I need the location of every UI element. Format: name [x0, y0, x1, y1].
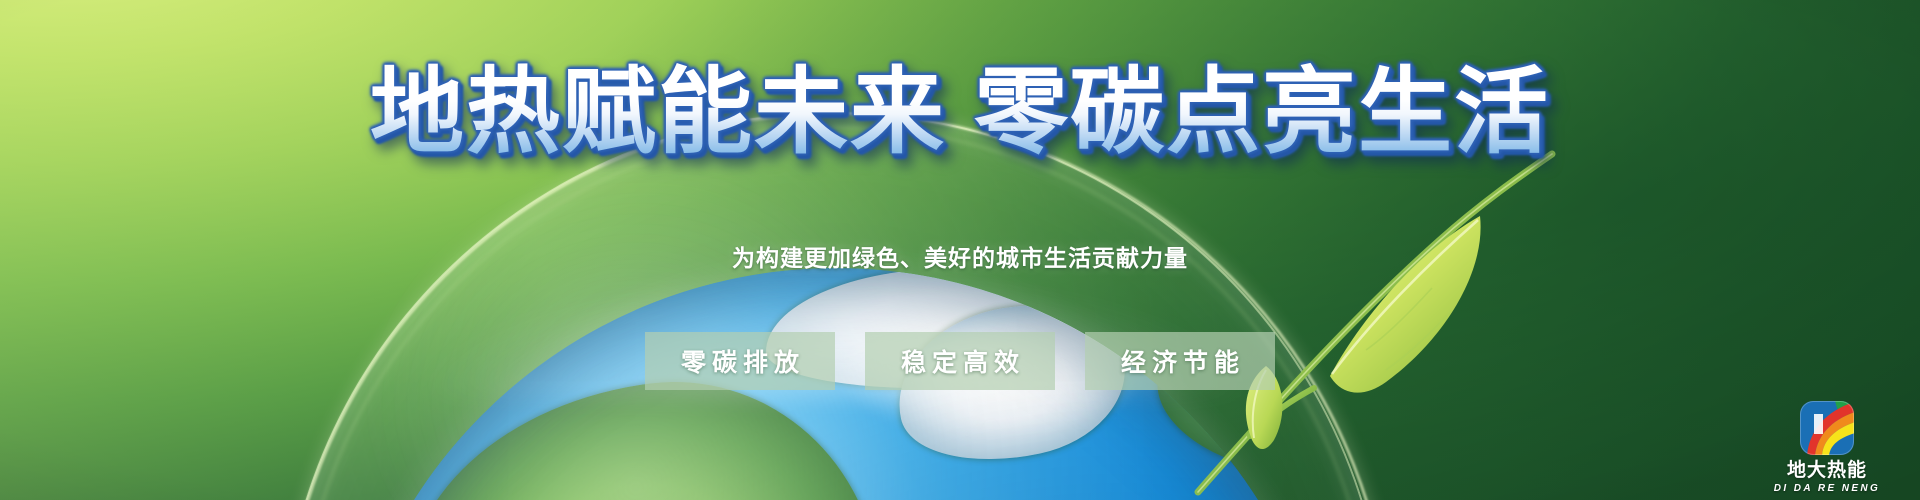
brand-name-cn: 地大热能: [1766, 460, 1888, 482]
brand-name-en: DI DA RE NENG: [1766, 482, 1888, 496]
feature-tag-list: 零碳排放 稳定高效 经济节能: [0, 332, 1920, 390]
page-subtitle: 为构建更加绿色、美好的城市生活贡献力量: [0, 243, 1920, 273]
feature-tag-economical[interactable]: 经济节能: [1085, 332, 1275, 390]
feature-tag-zero-carbon[interactable]: 零碳排放: [645, 332, 835, 390]
feature-tag-stable-efficient[interactable]: 稳定高效: [865, 332, 1055, 390]
hero-banner: 地热赋能未来 零碳点亮生活 为构建更加绿色、美好的城市生活贡献力量 零碳排放 稳…: [0, 0, 1920, 500]
brand-logo[interactable]: 地大热能 DI DA RE NENG: [1766, 400, 1888, 496]
page-title: 地热赋能未来 零碳点亮生活: [0, 60, 1920, 164]
rainbow-arc-in-rounded-square-icon: [1799, 400, 1855, 456]
